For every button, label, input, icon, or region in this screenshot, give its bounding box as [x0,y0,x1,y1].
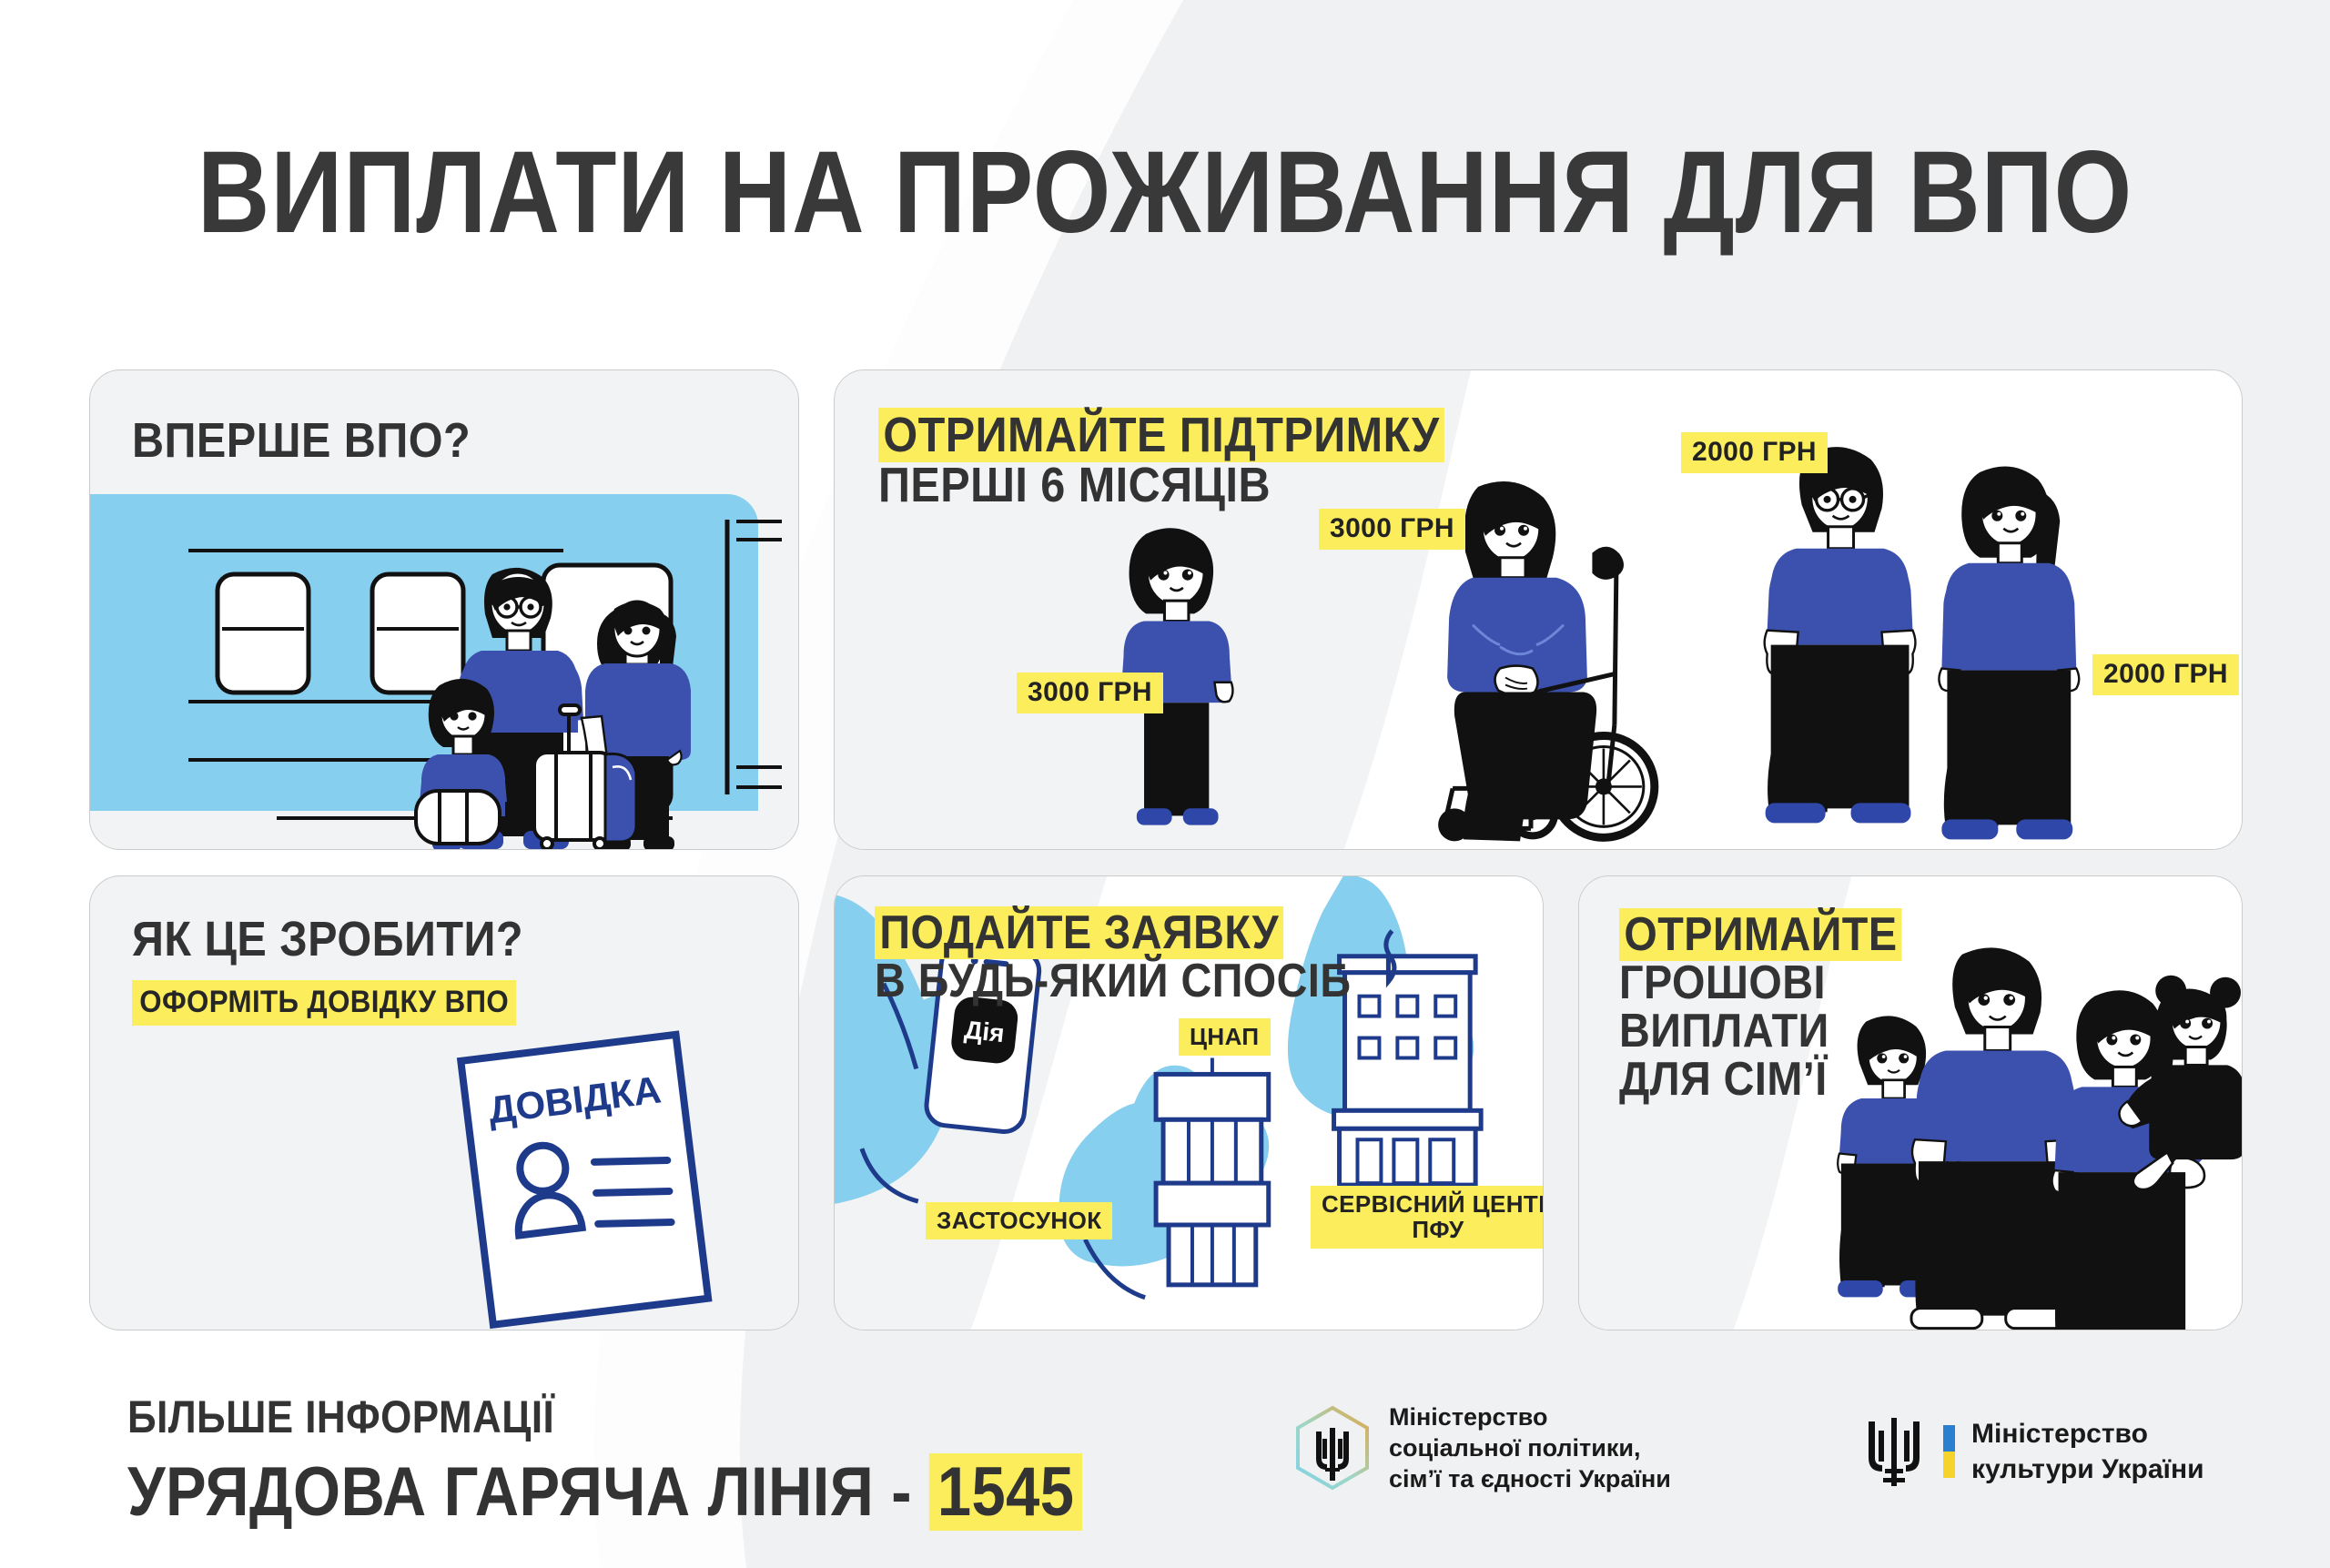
amount-badge-woman: 2000 ГРН [2092,654,2239,695]
footer-hotline: УРЯДОВА ГАРЯЧА ЛІНІЯ - 1545 [127,1452,1082,1532]
page-title: ВИПЛАТИ НА ПРОЖИВАННЯ ДЛЯ ВПО [163,135,2167,251]
card-apply: Дія [834,875,1544,1330]
amount-badge-disability: 3000 ГРН [1319,509,1465,550]
footer-hotline-number[interactable]: 1545 [929,1453,1082,1531]
footer-text: БІЛЬШЕ ІНФОРМАЦІЇ УРЯДОВА ГАРЯЧА ЛІНІЯ -… [127,1391,1212,1532]
option-badge-app: ЗАСТОСУНОК [926,1202,1112,1239]
amount-badge-child: 3000 ГРН [1017,673,1163,713]
hexagon-trident-icon [1292,1404,1373,1492]
card-receive-heading: ОТРИМАЙТЕ ГРОШОВІ ВИПЛАТИ ДЛЯ СІМ’Ї [1619,911,1902,1104]
certificate-illustration: ДОВІДКА [418,1022,799,1330]
card-receive-heading-line4: ДЛЯ СІМ’Ї [1619,1053,1828,1106]
card-how-subheading: ОФОРМІТЬ ДОВІДКУ ВПО [132,980,516,1026]
option-badge-pfu: СЕРВІСНИЙ ЦЕНТР ПФУ [1311,1186,1544,1249]
amount-badge-man: 2000 ГРН [1681,432,1828,473]
card-support: ОТРИМАЙТЕ ПІДТРИМКУ ПЕРШІ 6 МІСЯЦІВ [834,369,2243,850]
card-receive: ОТРИМАЙТЕ ГРОШОВІ ВИПЛАТИ ДЛЯ СІМ’Ї [1578,875,2243,1330]
trident-icon [1861,1412,1927,1491]
card-receive-heading-line2: ГРОШОВІ [1619,956,1826,1009]
logo-ministry-social-policy: Міністерство соціальної політики, сім’ї … [1292,1401,1671,1494]
footer-more-info: БІЛЬШЕ ІНФОРМАЦІЇ [127,1391,1082,1443]
card-receive-heading-highlight: ОТРИМАЙТЕ [1619,908,1902,961]
card-support-figures [835,370,2242,850]
card-how-to: ЯК ЦЕ ЗРОБИТИ? ОФОРМІТЬ ДОВІДКУ ВПО ДОВІ… [89,875,799,1330]
footer-hotline-label: УРЯДОВА ГАРЯЧА ЛІНІЯ - [127,1453,912,1531]
infographic-root: ВИПЛАТИ НА ПРОЖИВАННЯ ДЛЯ ВПО ВПЕРШЕ ВПО… [0,0,2330,1568]
option-badge-cnap: ЦНАП [1179,1018,1271,1056]
card-receive-heading-line3: ВИПЛАТИ [1619,1005,1829,1057]
logo-social-text: Міністерство соціальної політики, сім’ї … [1389,1401,1671,1494]
card-first-heading: ВПЕРШЕ ВПО? [132,416,471,466]
train-illustration [90,494,798,849]
ukraine-flag-bar [1943,1425,1955,1478]
card-apply-heading-highlight: ПОДАЙТЕ ЗАЯВКУ [875,906,1284,959]
card-how-heading: ЯК ЦЕ ЗРОБИТИ? [132,915,523,965]
card-first-time-idp: ВПЕРШЕ ВПО? [89,369,799,850]
card-apply-heading: ПОДАЙТЕ ЗАЯВКУ В БУДЬ-ЯКИЙ СПОСІБ [875,909,1351,1006]
logo-ministry-culture: Міністерство культури України [1861,1412,2204,1491]
logo-culture-text: Міністерство культури України [1971,1416,2204,1487]
app-name: Дія [963,1016,1006,1047]
card-apply-heading-rest: В БУДЬ-ЯКИЙ СПОСІБ [875,955,1351,1007]
